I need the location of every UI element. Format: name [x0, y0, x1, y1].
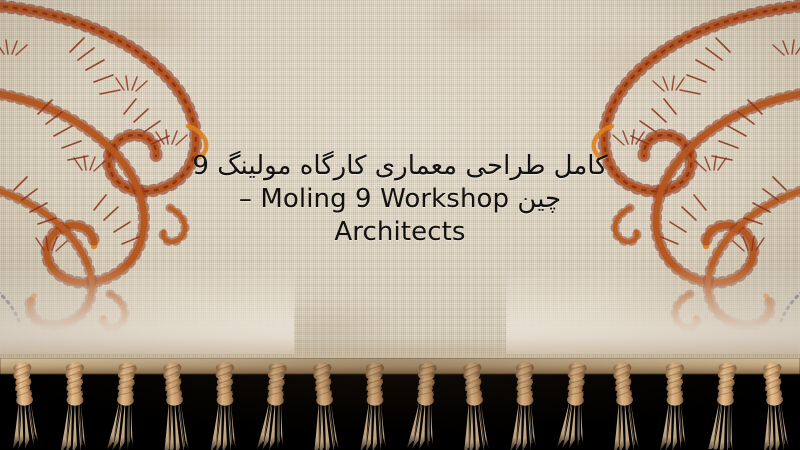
tassel [554, 361, 596, 450]
slide-title: کامل طراحی معماری کارگاه مولینگ 9 چین Mo… [0, 150, 800, 249]
slide-canvas: کامل طراحی معماری کارگاه مولینگ 9 چین Mo… [0, 0, 800, 450]
tassel [254, 361, 296, 450]
tassel [207, 362, 243, 450]
tassel-fringe [0, 358, 800, 450]
tassel [4, 361, 46, 450]
tassel [454, 361, 496, 450]
title-line-1: کامل طراحی معماری کارگاه مولینگ 9 [150, 150, 650, 183]
tassel [154, 361, 196, 450]
tassel [657, 362, 693, 450]
tassel [404, 361, 446, 450]
tassel [104, 361, 146, 450]
tassel [704, 361, 746, 450]
tassel [507, 362, 543, 450]
tassel [357, 362, 393, 450]
tassel [604, 361, 646, 450]
tassel [304, 361, 346, 450]
title-line-3: Architects [150, 216, 650, 249]
tassel [57, 362, 93, 450]
tassel [754, 361, 796, 450]
title-line-2: چین Moling 9 Workshop – [150, 183, 650, 216]
